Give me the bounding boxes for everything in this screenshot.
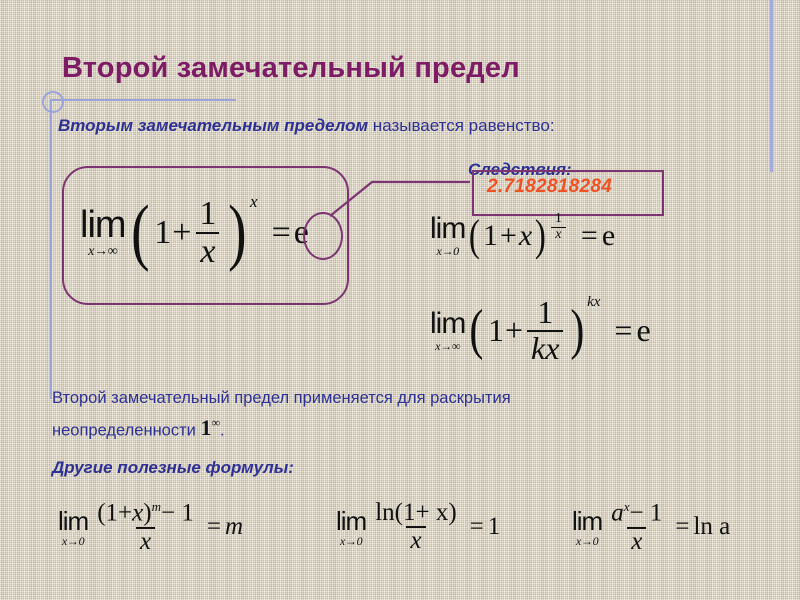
limit-operator: lim x→0	[336, 508, 366, 547]
numerator-exponent: m	[152, 499, 161, 514]
fraction-denominator: x	[627, 527, 646, 555]
fraction-numerator: 1	[533, 296, 557, 330]
numerator-tail: − 1	[161, 499, 194, 526]
callout-connector	[330, 160, 490, 220]
other-formula-1: lim x→0 (1+x)m− 1 x = m	[58, 500, 243, 555]
right-paren: )	[228, 196, 246, 269]
euler-value: 2.7182818284	[487, 176, 612, 198]
decorative-vertical-rule-right	[770, 0, 773, 172]
exponent-numerator: 1	[551, 212, 566, 227]
limit-op-label: lim	[58, 508, 88, 534]
corollary-formula-1: lim x→0 ( 1 + x ) 1 x = e	[430, 212, 615, 257]
equals-sign: =	[272, 214, 291, 252]
fraction: ax− 1 x	[607, 500, 666, 555]
fraction: (1+x)m− 1 x	[93, 500, 198, 555]
numerator-tail: − 1	[630, 499, 663, 526]
limit-operator: lim x→0	[430, 214, 465, 257]
limit-op-label: lim	[430, 214, 465, 244]
limit-subscript: x→0	[436, 245, 458, 257]
operand-one: 1	[488, 312, 504, 349]
limit-operator: lim x→0	[572, 508, 602, 547]
plus-sign: +	[172, 214, 191, 252]
decorative-vertical-rule-left	[50, 99, 52, 399]
indeterminate-form: 1∞	[200, 415, 220, 440]
limit-operator: lim x→∞	[430, 309, 465, 352]
result: ln a	[693, 513, 730, 541]
lead-sentence: Вторым замечательным пределом называется…	[58, 116, 555, 136]
operand-one: 1	[483, 219, 498, 253]
indeterminate-exponent: ∞	[211, 416, 220, 430]
limit-op-label: lim	[80, 206, 126, 244]
other-formula-2: lim x→0 ln(1+ x) x = 1	[336, 500, 500, 555]
lead-rest: называется равенство:	[368, 116, 555, 135]
result: 1	[488, 513, 501, 541]
exponent-denominator: x	[551, 227, 565, 243]
usage-line-2: неопределенности	[52, 421, 200, 439]
limit-op-label: lim	[572, 508, 602, 534]
limit-op-label: lim	[430, 309, 465, 339]
operand-one: 1	[154, 214, 171, 252]
fraction-denominator: x	[136, 527, 155, 555]
equals-sign: =	[614, 312, 632, 349]
left-paren: (	[470, 296, 484, 365]
usage-paragraph: Второй замечательный предел применяется …	[52, 386, 612, 443]
limit-subscript: x→∞	[88, 245, 117, 259]
result: m	[225, 513, 243, 541]
limit-subscript: x→0	[340, 535, 362, 547]
numerator-close: )	[143, 499, 151, 526]
fraction-numerator: 1	[195, 196, 220, 232]
right-paren: )	[535, 219, 546, 253]
plus-sign: +	[505, 312, 523, 349]
main-formula: lim x→∞ ( 1 + 1 x ) x = e	[80, 196, 309, 269]
fraction-denominator: kx	[527, 330, 563, 366]
fraction-denominator: x	[406, 526, 425, 554]
fraction-numerator: ax− 1	[607, 500, 666, 527]
page-title: Второй замечательный предел	[62, 52, 520, 85]
result-e: e	[602, 219, 615, 253]
corollary-formula-2: lim x→∞ ( 1 + 1 kx ) kx = e	[430, 296, 651, 365]
exponent: x	[250, 192, 258, 212]
fraction: ln(1+ x) x	[371, 500, 460, 555]
limit-subscript: x→0	[576, 535, 598, 547]
fraction-denominator: x	[196, 232, 219, 270]
left-paren: (	[469, 219, 480, 253]
numerator-open: (1+	[97, 499, 132, 526]
fraction-numerator: (1+x)m− 1	[93, 500, 198, 527]
limit-subscript: x→0	[62, 535, 84, 547]
left-paren: (	[131, 196, 149, 269]
decorative-horizontal-rule	[50, 99, 236, 101]
fraction-numerator: ln(1+ x)	[371, 500, 460, 526]
equals-sign: =	[207, 513, 221, 541]
usage-line-1: Второй замечательный предел применяется …	[52, 389, 511, 407]
fraction-one-over-x: 1 x	[195, 196, 220, 269]
decorative-circle-marker	[42, 91, 64, 113]
equals-sign: =	[581, 219, 598, 253]
equals-sign: =	[675, 513, 689, 541]
plus-sign: +	[500, 219, 517, 253]
equals-sign: =	[470, 513, 484, 541]
base-variable: x	[519, 219, 532, 253]
numerator-variable: a	[611, 499, 624, 526]
other-formula-3: lim x→0 ax− 1 x = ln a	[572, 500, 730, 555]
fraction-one-over-kx: 1 kx	[527, 296, 563, 365]
exponent-fraction: 1 x	[551, 212, 566, 242]
limit-subscript: x→∞	[435, 340, 460, 352]
limit-op-label: lim	[336, 508, 366, 534]
exponent: kx	[587, 294, 600, 311]
limit-operator: lim x→0	[58, 508, 88, 547]
usage-period: .	[220, 421, 225, 439]
right-paren: )	[571, 296, 585, 365]
limit-operator: lim x→∞	[80, 206, 126, 259]
other-formulas-label: Другие полезные формулы:	[52, 458, 294, 478]
slide-canvas: Второй замечательный предел Вторым замеч…	[0, 0, 800, 600]
indeterminate-base: 1	[200, 415, 211, 440]
result-e: e	[636, 312, 650, 349]
lead-emphasis: Вторым замечательным пределом	[58, 116, 368, 135]
numerator-variable: x	[132, 499, 143, 526]
